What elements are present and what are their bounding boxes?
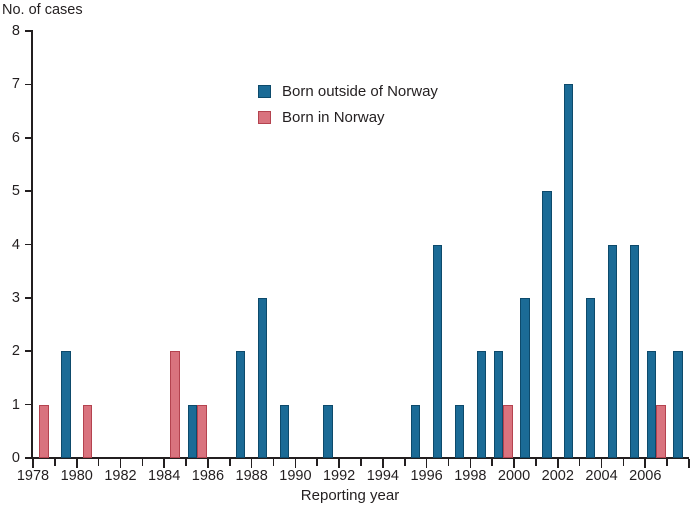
x-tick-2005 xyxy=(623,459,625,466)
y-axis-title: No. of cases xyxy=(2,2,83,18)
x-tick-label-1992: 1992 xyxy=(315,468,363,484)
y-tick-5 xyxy=(25,190,33,192)
y-tick-8 xyxy=(25,30,33,32)
y-tick-4 xyxy=(25,244,33,246)
x-tick-1986 xyxy=(207,459,209,468)
bar-blue-1991[interactable] xyxy=(323,405,333,458)
x-tick-label-1998: 1998 xyxy=(446,468,494,484)
x-tick-1993 xyxy=(360,459,362,466)
x-tick-label-2006: 2006 xyxy=(621,468,669,484)
x-tick-1994 xyxy=(382,459,384,468)
x-tick-1997 xyxy=(448,459,450,466)
x-tick-2000 xyxy=(513,459,515,468)
x-tick-1996 xyxy=(426,459,428,468)
bar-blue-1997[interactable] xyxy=(455,405,465,458)
bar-blue-2007[interactable] xyxy=(673,351,683,458)
bar-blue-2000[interactable] xyxy=(520,298,530,458)
x-tick-1978 xyxy=(32,459,34,468)
x-tick-1985 xyxy=(185,459,187,466)
x-tick-1988 xyxy=(251,459,253,468)
bar-red-1999[interactable] xyxy=(503,405,513,458)
x-tick-2007 xyxy=(666,459,668,466)
x-tick-1987 xyxy=(229,459,231,466)
bar-blue-1988[interactable] xyxy=(258,298,268,458)
bar-red-2006[interactable] xyxy=(656,405,666,458)
x-tick-2008 xyxy=(688,459,690,468)
bar-blue-2001[interactable] xyxy=(542,191,552,458)
y-tick-label-4: 4 xyxy=(0,238,20,253)
bar-red-1985[interactable] xyxy=(197,405,207,458)
bar-red-1984[interactable] xyxy=(170,351,180,458)
bar-blue-1979[interactable] xyxy=(61,351,71,458)
x-tick-1983 xyxy=(142,459,144,466)
x-tick-2003 xyxy=(579,459,581,466)
x-tick-label-1996: 1996 xyxy=(403,468,451,484)
y-tick-3 xyxy=(25,297,33,299)
legend-label-red: Born in Norway xyxy=(282,110,385,125)
x-tick-label-1980: 1980 xyxy=(53,468,101,484)
x-tick-2006 xyxy=(644,459,646,468)
x-tick-1981 xyxy=(98,459,100,466)
x-tick-1992 xyxy=(338,459,340,468)
y-tick-2 xyxy=(25,350,33,352)
x-tick-1991 xyxy=(316,459,318,466)
x-tick-2004 xyxy=(601,459,603,468)
x-tick-1998 xyxy=(470,459,472,468)
x-tick-1999 xyxy=(491,459,493,466)
x-tick-label-1994: 1994 xyxy=(359,468,407,484)
bar-blue-1987[interactable] xyxy=(236,351,246,458)
bar-blue-2004[interactable] xyxy=(608,245,618,459)
x-tick-label-2004: 2004 xyxy=(578,468,626,484)
y-tick-label-2: 2 xyxy=(0,344,20,359)
legend-swatch-icon-blue xyxy=(258,85,271,98)
x-tick-1979 xyxy=(54,459,56,466)
bar-blue-2005[interactable] xyxy=(630,245,640,459)
bar-blue-2003[interactable] xyxy=(586,298,596,458)
x-axis-title: Reporting year xyxy=(0,487,700,504)
bar-blue-2006[interactable] xyxy=(647,351,657,458)
x-tick-label-1990: 1990 xyxy=(271,468,319,484)
bar-blue-1995[interactable] xyxy=(411,405,421,458)
x-tick-2002 xyxy=(557,459,559,468)
y-tick-label-5: 5 xyxy=(0,184,20,199)
y-tick-label-8: 8 xyxy=(0,24,20,39)
x-tick-label-1982: 1982 xyxy=(96,468,144,484)
chart-root: No. of cases 012345678 19781980198219841… xyxy=(0,0,700,511)
x-tick-label-1986: 1986 xyxy=(184,468,232,484)
y-tick-label-7: 7 xyxy=(0,77,20,92)
bar-blue-2002[interactable] xyxy=(564,84,574,458)
y-tick-label-6: 6 xyxy=(0,131,20,146)
legend-swatch-icon-red xyxy=(258,111,271,124)
x-tick-label-2002: 2002 xyxy=(534,468,582,484)
bar-blue-1996[interactable] xyxy=(433,245,443,459)
y-tick-label-3: 3 xyxy=(0,291,20,306)
x-tick-1982 xyxy=(120,459,122,468)
x-tick-label-1988: 1988 xyxy=(228,468,276,484)
bar-blue-1998[interactable] xyxy=(477,351,487,458)
y-tick-6 xyxy=(25,137,33,139)
x-tick-label-2000: 2000 xyxy=(490,468,538,484)
x-tick-2001 xyxy=(535,459,537,466)
y-tick-1 xyxy=(25,404,33,406)
x-tick-1989 xyxy=(273,459,275,466)
bar-red-1980[interactable] xyxy=(83,405,93,458)
x-tick-1995 xyxy=(404,459,406,466)
legend-item-born-outside-of-norway[interactable]: Born outside of Norway xyxy=(258,78,438,104)
bar-blue-1985[interactable] xyxy=(188,405,198,458)
y-tick-7 xyxy=(25,84,33,86)
bar-red-1978[interactable] xyxy=(39,405,49,458)
y-tick-label-1: 1 xyxy=(0,398,20,413)
x-tick-label-1978: 1978 xyxy=(9,468,57,484)
x-tick-1990 xyxy=(295,459,297,468)
chart-legend: Born outside of Norway Born in Norway xyxy=(258,78,438,130)
legend-label-blue: Born outside of Norway xyxy=(282,84,438,99)
x-tick-1984 xyxy=(163,459,165,468)
x-tick-label-1984: 1984 xyxy=(140,468,188,484)
bar-blue-1999[interactable] xyxy=(494,351,504,458)
x-tick-1980 xyxy=(76,459,78,468)
bar-blue-1989[interactable] xyxy=(280,405,290,458)
y-tick-label-0: 0 xyxy=(0,451,20,466)
legend-item-born-in-norway[interactable]: Born in Norway xyxy=(258,104,438,130)
